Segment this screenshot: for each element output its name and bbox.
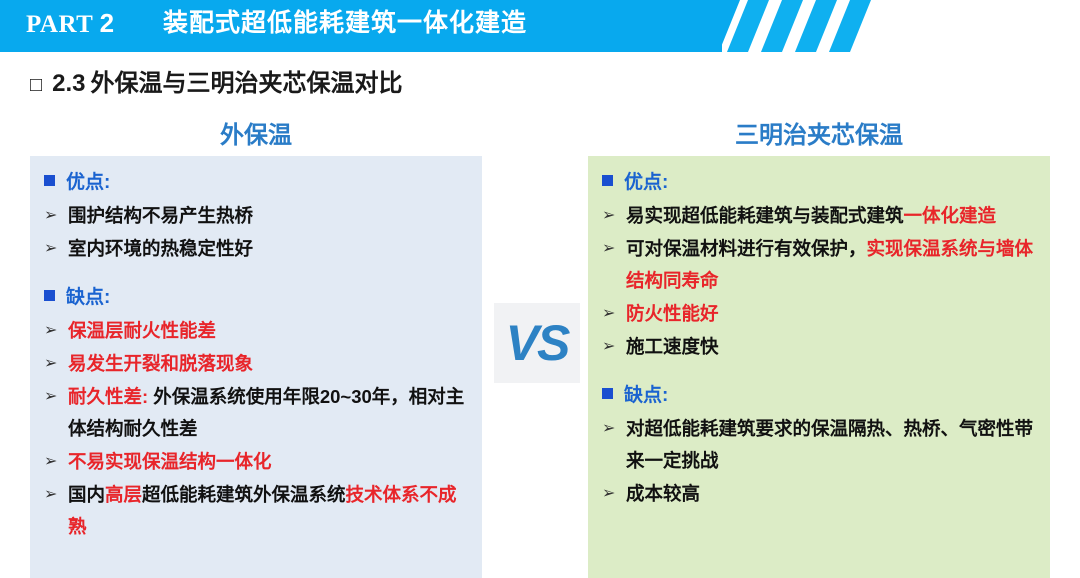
bullet-text-run: 耐久性差:: [68, 386, 148, 407]
square-bullet-icon: [602, 388, 613, 399]
bullet-item: ➢施工速度快: [602, 331, 1036, 363]
bullet-text-run: 高层: [105, 484, 142, 505]
column-title-right: 三明治夹芯保温: [588, 120, 1050, 152]
arrow-bullet-icon: ➢: [602, 200, 626, 232]
bullet-text-run: 易发生开裂和脱落现象: [68, 353, 253, 374]
bullet-text: 围护结构不易产生热桥: [68, 200, 468, 232]
section-marker-icon: □: [30, 74, 42, 96]
bullet-text-run: 可对保温材料进行有效保护，: [626, 238, 867, 259]
bullet-text-run: 防火性能好: [626, 303, 719, 324]
bullet-text: 不易实现保温结构一体化: [68, 446, 468, 478]
bullet-text: 防火性能好: [626, 298, 1036, 330]
bullet-item: ➢易实现超低能耗建筑与装配式建筑一体化建造: [602, 200, 1036, 232]
group-heading-label: 优点:: [624, 168, 668, 198]
section-number: 2.3: [52, 70, 85, 97]
bullet-text: 施工速度快: [626, 331, 1036, 363]
header-stripe-2: [761, 0, 803, 52]
bullet-text-run: 成本较高: [626, 483, 700, 504]
bullet-item: ➢国内高层超低能耗建筑外保温系统技术体系不成熟: [44, 479, 468, 543]
bullet-item: ➢室内环境的热稳定性好: [44, 233, 468, 265]
bullet-text-run: 一体化建造: [904, 205, 997, 226]
vs-label: VS: [506, 318, 569, 368]
column-title-left: 外保温: [30, 120, 482, 152]
bullet-text-run: 易实现超低能耗建筑与装配式建筑: [626, 205, 904, 226]
group-heading: 缺点:: [602, 381, 1036, 411]
arrow-bullet-icon: ➢: [602, 413, 626, 445]
header-stripe-3: [795, 0, 837, 52]
group-heading: 优点:: [602, 168, 1036, 198]
bullet-text-run: 室内环境的热稳定性好: [68, 238, 253, 259]
slide-header: PART 2 装配式超低能耗建筑一体化建造: [0, 0, 1080, 52]
section-heading: □2.3外保温与三明治夹芯保温对比: [30, 68, 402, 101]
arrow-bullet-icon: ➢: [44, 446, 68, 478]
slide: PART 2 装配式超低能耗建筑一体化建造 □2.3外保温与三明治夹芯保温对比 …: [0, 0, 1080, 578]
header-title: 装配式超低能耗建筑一体化建造: [163, 7, 527, 39]
section-title: 外保温与三明治夹芯保温对比: [90, 70, 402, 97]
bullet-item: ➢对超低能耗建筑要求的保温隔热、热桥、气密性带来一定挑战: [602, 413, 1036, 477]
part-label-text: PART: [26, 11, 93, 38]
bullet-item: ➢保温层耐火性能差: [44, 315, 468, 347]
bullet-item: ➢易发生开裂和脱落现象: [44, 348, 468, 380]
part-number: 2: [100, 8, 115, 38]
bullet-text: 保温层耐火性能差: [68, 315, 468, 347]
arrow-bullet-icon: ➢: [602, 233, 626, 265]
bullet-text: 易实现超低能耗建筑与装配式建筑一体化建造: [626, 200, 1036, 232]
square-bullet-icon: [44, 290, 55, 301]
bullet-text-run: 不易实现保温结构一体化: [68, 451, 272, 472]
bullet-item: ➢耐久性差: 外保温系统使用年限20~30年，相对主体结构耐久性差: [44, 381, 468, 445]
bullet-text: 成本较高: [626, 478, 1036, 510]
header-underline: [0, 52, 1080, 56]
arrow-bullet-icon: ➢: [602, 478, 626, 510]
arrow-bullet-icon: ➢: [44, 200, 68, 232]
bullet-text: 对超低能耗建筑要求的保温隔热、热桥、气密性带来一定挑战: [626, 413, 1036, 477]
group-heading: 缺点:: [44, 283, 468, 313]
group-heading-label: 优点:: [66, 168, 110, 198]
group-heading-label: 缺点:: [66, 283, 110, 313]
bullet-text-run: 围护结构不易产生热桥: [68, 205, 253, 226]
bullet-text-run: 施工速度快: [626, 336, 719, 357]
bullet-text: 国内高层超低能耗建筑外保温系统技术体系不成熟: [68, 479, 468, 543]
vs-badge: VS: [494, 303, 580, 383]
bullet-text: 可对保温材料进行有效保护，实现保温系统与墙体结构同寿命: [626, 233, 1036, 297]
arrow-bullet-icon: ➢: [44, 233, 68, 265]
bullet-item: ➢可对保温材料进行有效保护，实现保温系统与墙体结构同寿命: [602, 233, 1036, 297]
header-stripe-4: [829, 0, 871, 52]
group-heading-label: 缺点:: [624, 381, 668, 411]
bullet-item: ➢防火性能好: [602, 298, 1036, 330]
panel-left: 优点:➢围护结构不易产生热桥➢室内环境的热稳定性好缺点:➢保温层耐火性能差➢易发…: [30, 156, 482, 578]
arrow-bullet-icon: ➢: [602, 298, 626, 330]
bullet-text-run: 超低能耗建筑外保温系统: [142, 484, 346, 505]
bullet-text-run: 对超低能耗建筑要求的保温隔热、热桥、气密性带来一定挑战: [626, 418, 1033, 471]
group-heading: 优点:: [44, 168, 468, 198]
arrow-bullet-icon: ➢: [44, 348, 68, 380]
bullet-item: ➢不易实现保温结构一体化: [44, 446, 468, 478]
arrow-bullet-icon: ➢: [44, 315, 68, 347]
arrow-bullet-icon: ➢: [44, 381, 68, 413]
panel-right: 优点:➢易实现超低能耗建筑与装配式建筑一体化建造➢可对保温材料进行有效保护，实现…: [588, 156, 1050, 578]
arrow-bullet-icon: ➢: [44, 479, 68, 511]
square-bullet-icon: [602, 175, 613, 186]
square-bullet-icon: [44, 175, 55, 186]
bullet-text-run: 保温层耐火性能差: [68, 320, 216, 341]
bullet-text: 耐久性差: 外保温系统使用年限20~30年，相对主体结构耐久性差: [68, 381, 468, 445]
bullet-text: 易发生开裂和脱落现象: [68, 348, 468, 380]
bullet-item: ➢成本较高: [602, 478, 1036, 510]
part-label: PART 2: [26, 7, 115, 41]
arrow-bullet-icon: ➢: [602, 331, 626, 363]
bullet-item: ➢围护结构不易产生热桥: [44, 200, 468, 232]
bullet-text-run: 国内: [68, 484, 105, 505]
bullet-text: 室内环境的热稳定性好: [68, 233, 468, 265]
